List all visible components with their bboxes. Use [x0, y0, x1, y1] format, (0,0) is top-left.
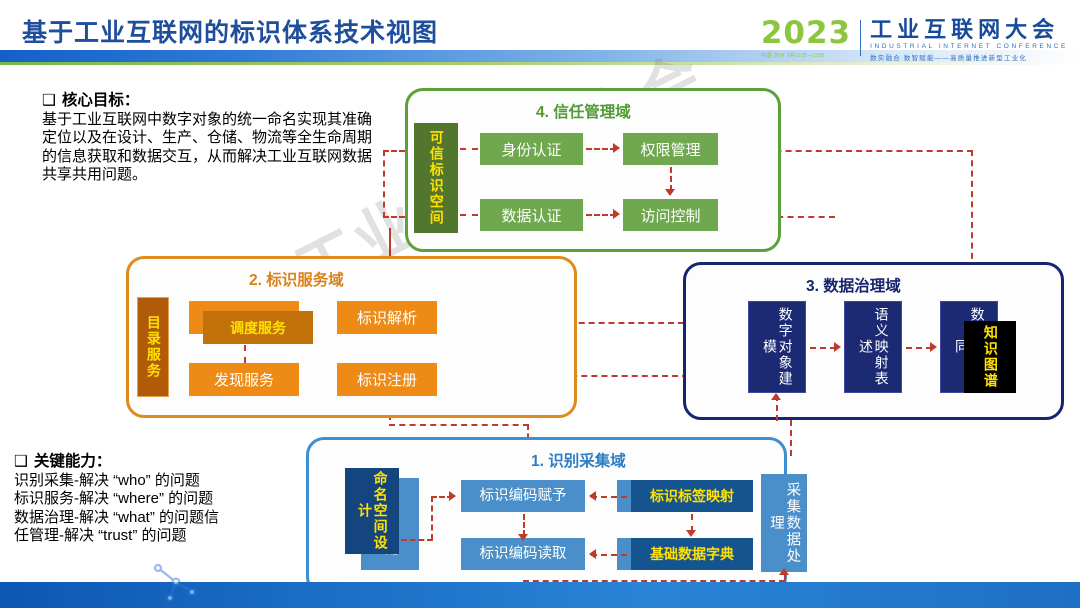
connector-space-to-data: [460, 214, 478, 216]
key-ability-heading-text: 关键能力：: [34, 453, 112, 470]
connector-identify-up-h: [389, 424, 529, 426]
key-ability-line: 识别采集-解决 “who” 的问题: [14, 472, 344, 490]
connector-model-to-semantic: [810, 347, 836, 349]
core-goal-heading-text: 核心目标：: [62, 92, 140, 109]
node-identity-resolution[interactable]: 标识解析: [337, 301, 437, 334]
domain-service-title: 2. 标识服务域: [249, 268, 344, 290]
robot-arm-icon: [152, 562, 198, 604]
node-semantic-mapping[interactable]: 语义映射表述: [844, 301, 902, 393]
logo-divider: [860, 20, 861, 56]
domain-data-governance[interactable]: 3. 数据治理域 数字对象建模 语义映射表述 数据交互协同 知识图谱: [683, 262, 1064, 420]
page-title: 基于工业互联网的标识体系技术视图: [22, 13, 438, 49]
connector-assign-to-read: [523, 514, 525, 536]
key-ability-line: 任管理-解决 “trust” 的问题: [14, 527, 344, 545]
domain-trust-title: 4. 信任管理域: [536, 100, 631, 122]
key-ability-block: ❑关键能力： 识别采集-解决 “who” 的问题 标识服务-解决 “where”…: [14, 449, 344, 545]
core-goal-heading: ❑核心目标：: [42, 88, 372, 110]
node-base-data-dictionary[interactable]: 基础数据字典: [631, 538, 753, 570]
connector-namespace-riser: [431, 496, 433, 540]
key-ability-line: 数据治理-解决 “what” 的问题信: [14, 509, 344, 527]
logo-text-block: 工业互联网大会 INDUSTRIAL INTERNET CONFERENCE 数…: [870, 18, 1068, 62]
key-ability-heading: ❑关键能力：: [14, 449, 344, 471]
domain-identity-service[interactable]: 2. 标识服务域 目录服务 调度服务 发现服务 标识解析 标识注册: [126, 256, 577, 418]
node-identity-authentication[interactable]: 身份认证: [480, 133, 583, 165]
connector-dispatch-to-discovery: [244, 345, 246, 363]
logo-chinese-name: 工业互联网大会: [870, 18, 1068, 41]
node-namespace-design-label: 命名空间设计: [356, 468, 387, 554]
node-collection-data-processing[interactable]: 采集数据处理: [761, 474, 807, 572]
domain-identify-title: 1. 识别采集域: [531, 449, 626, 471]
core-goal-body: 基于工业互联网中数字对象的统一命名实现其准确定位以及在设计、生产、仓储、物流等全…: [42, 111, 372, 184]
logo-year-subtitle: 中国·苏州 9月11日—13日: [761, 52, 851, 59]
domain-identify-collect[interactable]: 1. 识别采集域 标识缀配 命名空间设计 标识编码赋予 标识编码读取 标识标签映…: [306, 437, 787, 595]
node-data-authentication[interactable]: 数据认证: [480, 199, 583, 231]
arrow-up-collect: [779, 568, 789, 575]
node-access-control[interactable]: 访问控制: [623, 199, 718, 231]
connector-space-to-identity: [460, 148, 478, 150]
arrow-down-access: [665, 189, 675, 196]
node-semantic-mapping-label: 语义映射表述: [857, 302, 888, 392]
node-identity-registration[interactable]: 标识注册: [337, 363, 437, 396]
arrow-right-interaction: [930, 342, 937, 352]
node-digital-object-modeling[interactable]: 数字对象建模: [748, 301, 806, 393]
node-discovery-service[interactable]: 发现服务: [189, 363, 299, 396]
connector-trust-left-rail: [383, 150, 385, 218]
arrow-right-semantic: [834, 342, 841, 352]
arrow-left-assignment: [589, 491, 596, 501]
node-dispatch-service[interactable]: 调度服务: [203, 311, 313, 344]
arrow-up-model: [771, 393, 781, 400]
logo-tagline: 数实融合 数智赋能——高质量推进新型工业化: [870, 52, 1068, 62]
logo-year: 2023: [761, 18, 851, 49]
arrow-left-read: [589, 549, 596, 559]
key-ability-body: 识别采集-解决 “who” 的问题 标识服务-解决 “where” 的问题 数据…: [14, 472, 344, 545]
domain-trust-management[interactable]: 4. 信任管理域 可信标识空间 身份认证 权限管理 数据认证 访问控制: [405, 88, 781, 252]
node-code-assignment[interactable]: 标识编码赋予: [461, 480, 585, 512]
conference-logo: 2023 中国·苏州 9月11日—13日 工业互联网大会 INDUSTRIAL …: [761, 18, 1068, 62]
node-digital-object-modeling-label: 数字对象建模: [761, 302, 792, 392]
bullet-square-icon: ❑: [42, 91, 56, 109]
node-knowledge-graph[interactable]: 知识图谱: [964, 321, 1016, 393]
arrow-down-read: [518, 534, 528, 541]
bullet-square-icon: ❑: [14, 452, 28, 470]
header-rule-green: [0, 62, 1080, 65]
node-namespace-design[interactable]: 命名空间设计: [345, 468, 399, 554]
logo-english-name: INDUSTRIAL INTERNET CONFERENCE: [870, 43, 1068, 50]
node-permission-management[interactable]: 权限管理: [623, 133, 718, 165]
connector-identity-to-permission: [586, 148, 616, 150]
node-knowledge-graph-label: 知识图谱: [982, 325, 998, 389]
connector-namespace-lower: [401, 539, 433, 541]
arrow-right-assignment: [449, 491, 456, 501]
key-ability-line: 标识服务-解决 “where” 的问题: [14, 490, 344, 508]
connector-data-to-access: [586, 214, 616, 216]
arrow-right-permission: [613, 143, 620, 153]
node-trusted-identity-space[interactable]: 可信标识空间: [414, 123, 458, 233]
node-collection-data-processing-label: 采集数据处理: [768, 474, 801, 572]
domain-governance-title: 3. 数据治理域: [806, 274, 901, 296]
arrow-down-dict: [686, 530, 696, 537]
logo-year-block: 2023 中国·苏州 9月11日—13日: [761, 18, 851, 59]
core-goal-block: ❑核心目标： 基于工业互联网中数字对象的统一命名实现其准确定位以及在设计、生产、…: [42, 88, 372, 184]
node-directory-service[interactable]: 目录服务: [137, 297, 169, 397]
connector-semantic-to-interaction: [906, 347, 932, 349]
node-code-reading[interactable]: 标识编码读取: [461, 538, 585, 570]
connector-mapping-to-assignment: [591, 496, 627, 498]
connector-dict-to-read: [591, 554, 627, 556]
connector-permission-to-access: [670, 167, 672, 191]
arrow-right-access: [613, 209, 620, 219]
node-label-mapping[interactable]: 标识标签映射: [631, 480, 753, 512]
